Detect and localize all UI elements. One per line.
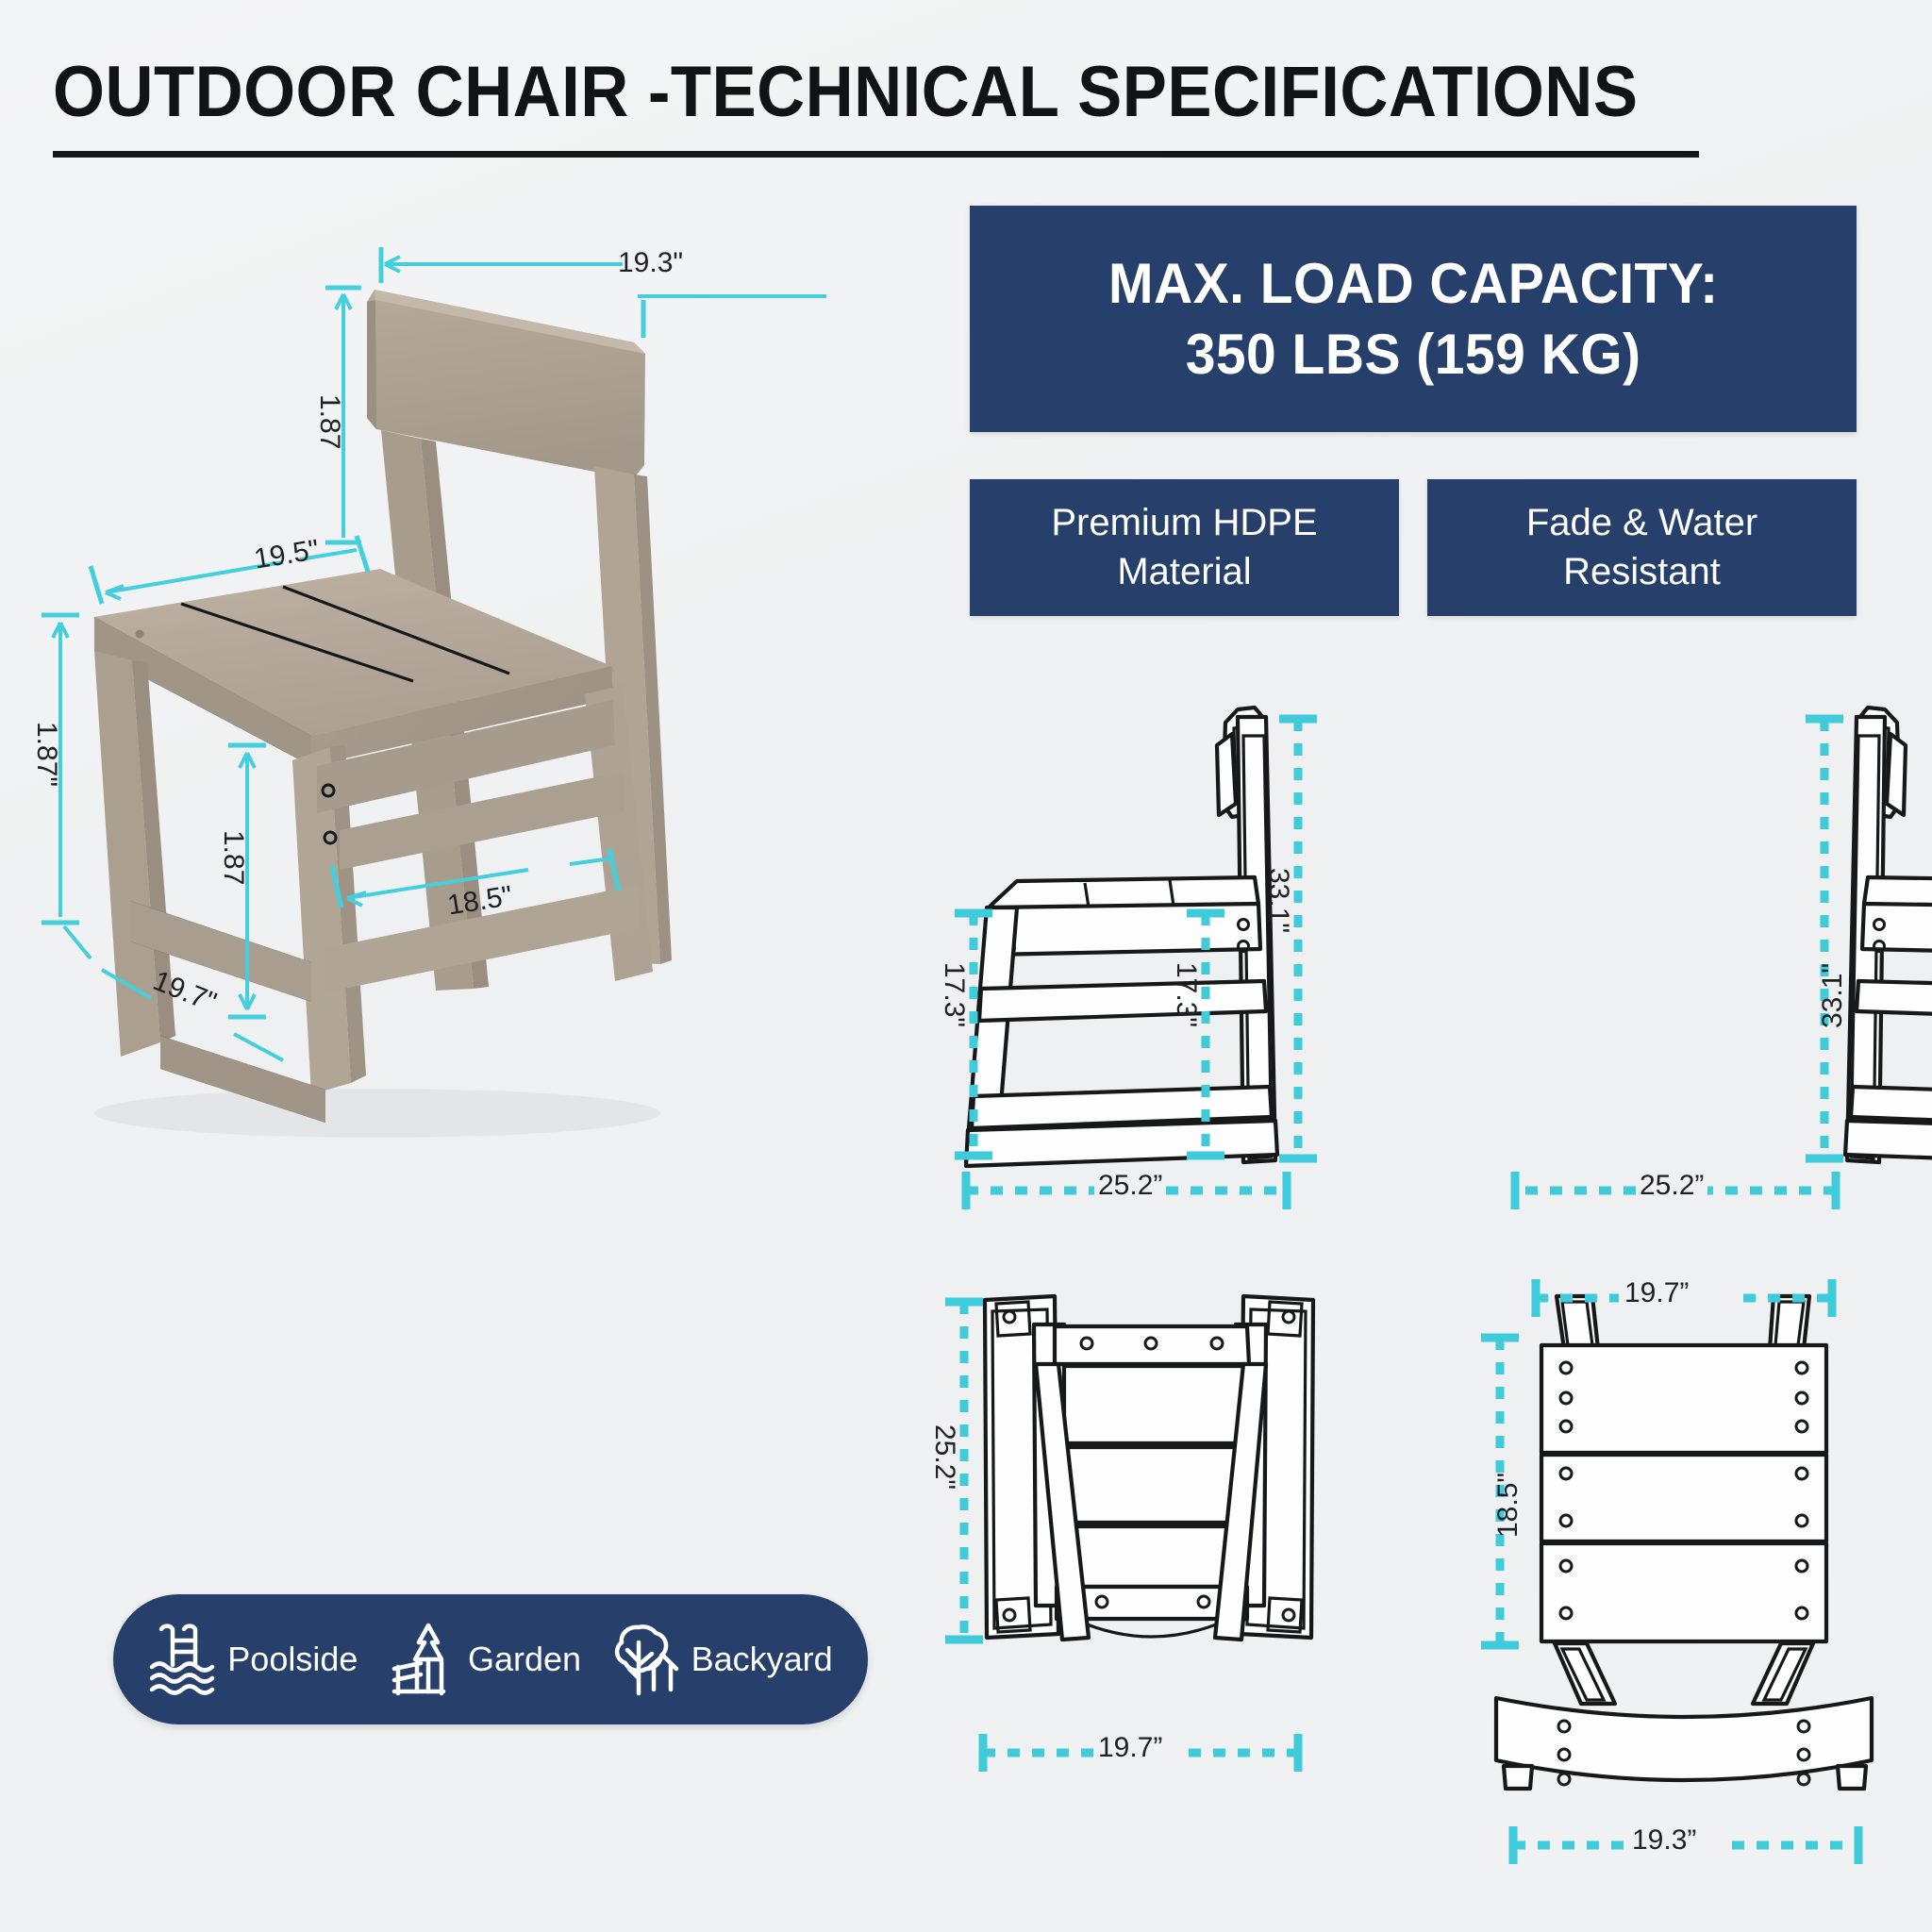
usage-label-backyard: Backyard [691,1640,833,1679]
usage-item-garden[interactable]: Garden [387,1620,581,1699]
side-right-dim-seat-height: 17.3" [1170,962,1202,1027]
usage-label-garden: Garden [468,1640,581,1679]
side-left-dim-total-depth: 25.2” [1098,1170,1162,1202]
usage-label-poolside: Poolside [227,1640,358,1679]
side-view-right-drawing [1845,708,1932,1166]
garden-icon [387,1620,457,1699]
side-view-left-drawing [966,708,1277,1166]
side-left-dim-total-height: 33.1" [1262,868,1294,933]
front-view-dim-seat-width: 19.3” [1632,1824,1696,1857]
side-right-dim-total-depth: 25.2” [1640,1170,1704,1202]
front-view-dim-backrest-height: 18.5" [1492,1473,1524,1538]
top-view-dim-total-depth: 25.2" [928,1424,960,1490]
top-view-drawing [985,1296,1313,1640]
front-view-dim-backrest-width: 19.7” [1624,1277,1689,1309]
top-view-dim-total-width: 19.7” [1098,1732,1162,1764]
side-right-dim-total-height: 33.1" [1817,963,1849,1028]
side-view-right-dimensions [1187,719,1843,1209]
front-view-drawing [1496,1296,1872,1789]
usage-badge-bar: Poolside Garden [113,1594,868,1724]
backyard-icon [610,1620,680,1699]
side-left-dim-seat-height: 17.3" [938,962,970,1027]
spec-sheet-page: OUTDOOR CHAIR -TECHNICAL SPECIFICATIONS [0,0,1932,1932]
pool-icon [148,1620,216,1699]
usage-item-backyard[interactable]: Backyard [610,1620,833,1699]
usage-item-poolside[interactable]: Poolside [148,1620,358,1699]
